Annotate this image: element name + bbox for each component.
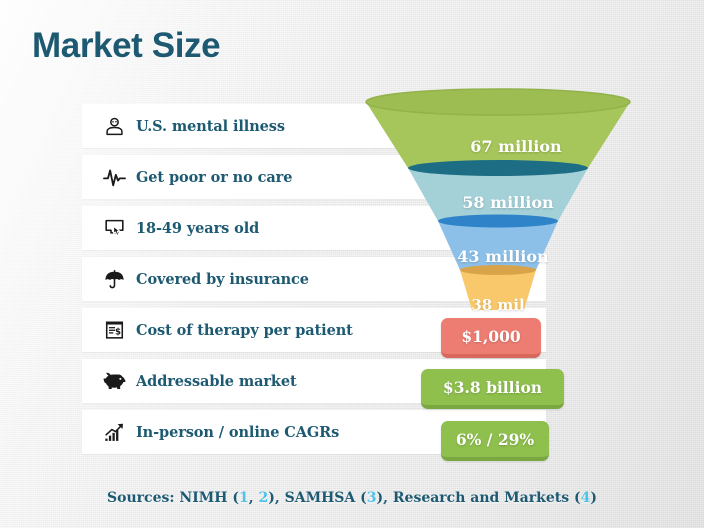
funnel-rim-3: [438, 215, 558, 228]
funnel-segment-4: [460, 270, 536, 310]
metric-row-label: U.S. mental illness: [136, 118, 285, 135]
source-link-4[interactable]: 4: [581, 490, 591, 506]
source-link-1[interactable]: 1: [239, 490, 249, 506]
sources-mid-1: ), SAMHSA (: [268, 490, 367, 506]
click-screen-icon: [92, 206, 136, 250]
user-icon: [92, 104, 136, 148]
sources-prefix: Sources: NIMH (: [107, 490, 239, 506]
cost-pill: $1,000: [441, 318, 541, 358]
funnel-rim-4: [460, 265, 536, 275]
market-pill: $3.8 billion: [421, 369, 564, 409]
growth-chart-icon: [92, 410, 136, 454]
invoice-icon: $: [92, 308, 136, 352]
page-title: Market Size: [32, 26, 220, 66]
umbrella-icon: [92, 257, 136, 301]
sources-suffix: ): [590, 490, 597, 506]
sources-mid-2: ), Research and Markets (: [377, 490, 581, 506]
metric-row-label: Cost of therapy per patient: [136, 322, 353, 339]
funnel-rim-2: [408, 160, 588, 176]
funnel-chart: 67 million 58 million 43 million 38 mil: [364, 88, 632, 310]
metric-row-label: 18-49 years old: [136, 220, 259, 237]
slide-canvas: Market Size U.S. mental illness Get poor…: [0, 0, 704, 528]
metric-row-label: Get poor or no care: [136, 169, 292, 186]
sources-line: Sources: NIMH (1, 2), SAMHSA (3), Resear…: [0, 490, 704, 506]
metric-row-label: In-person / online CAGRs: [136, 424, 339, 441]
metric-row-label: Addressable market: [136, 373, 297, 390]
source-link-2[interactable]: 2: [258, 490, 268, 506]
svg-text:$: $: [114, 327, 120, 337]
metric-row-label: Covered by insurance: [136, 271, 309, 288]
source-link-3[interactable]: 3: [367, 490, 377, 506]
cagr-pill: 6% / 29%: [441, 421, 549, 461]
piggy-bank-icon: [92, 359, 136, 403]
heartbeat-icon: [92, 155, 136, 199]
funnel-segment-3: [438, 221, 558, 270]
